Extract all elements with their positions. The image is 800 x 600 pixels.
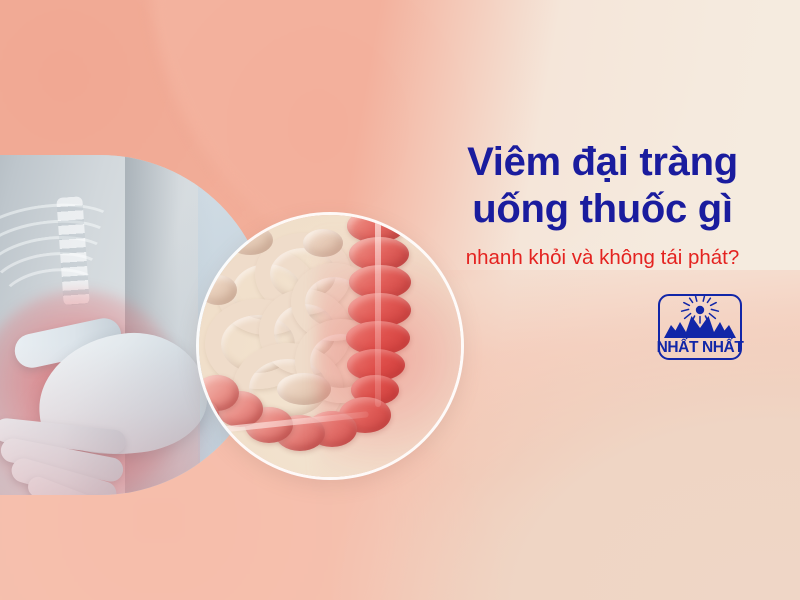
page-title-line2: uống thuốc gì xyxy=(430,187,775,232)
inflamed-colon-illustration xyxy=(199,215,461,477)
colon-content xyxy=(199,215,461,477)
lower-body-wash xyxy=(0,345,200,495)
headline-block: Viêm đại tràng uống thuốc gì nhanh khỏi … xyxy=(430,140,775,270)
promo-banner: Viêm đại tràng uống thuốc gì nhanh khỏi … xyxy=(0,0,800,600)
page-title-line1: Viêm đại tràng xyxy=(430,140,775,185)
brand-logo: NHẤT NHẤT xyxy=(655,292,745,364)
page-subtitle: nhanh khỏi và không tái phát? xyxy=(430,246,775,271)
logo-wordmark: NHẤT NHẤT xyxy=(655,340,745,356)
